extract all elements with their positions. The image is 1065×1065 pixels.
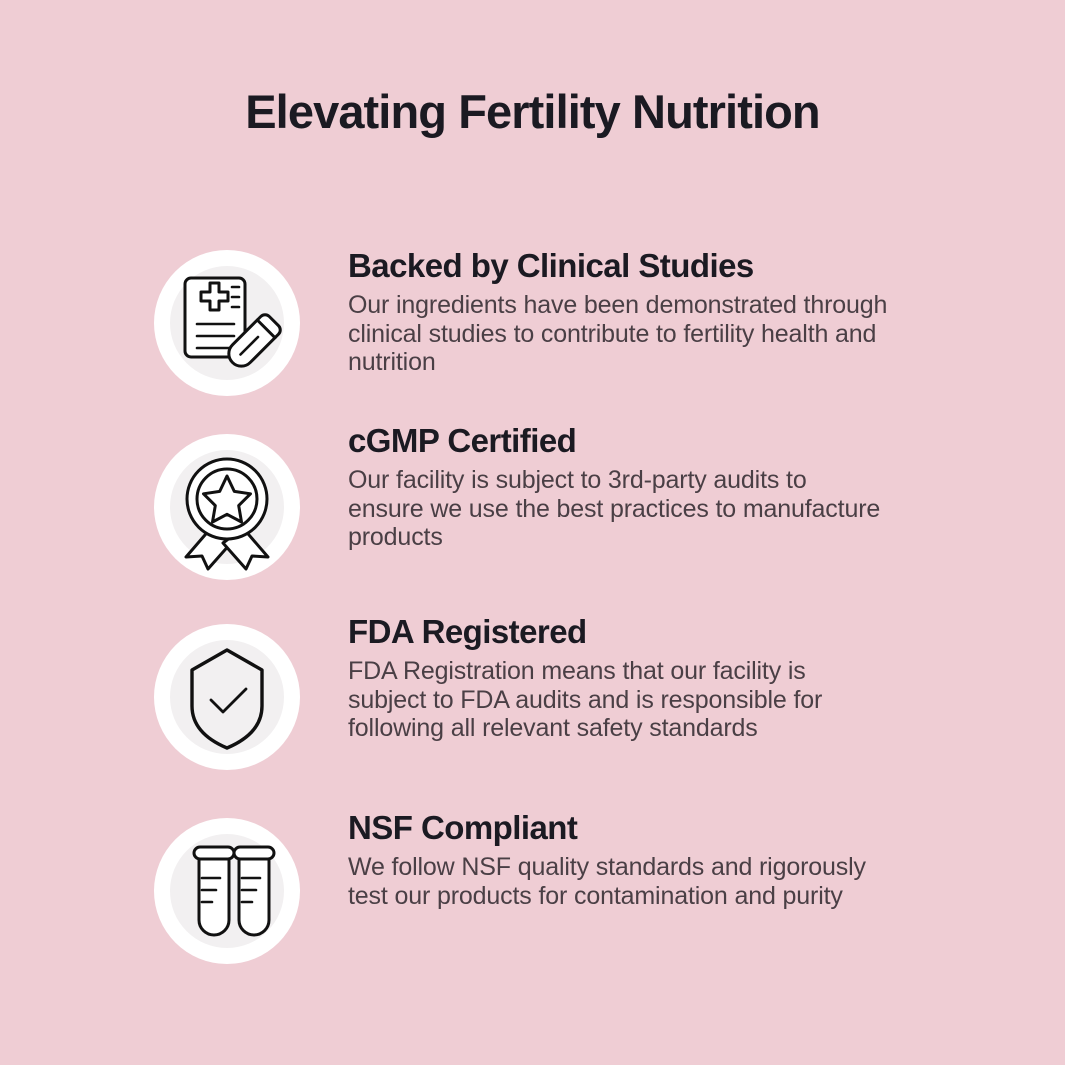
feature-body: Our ingredients have been demonstrated t… [348, 291, 888, 377]
feature-heading: cGMP Certified [348, 419, 912, 463]
shield-check-icon [154, 624, 300, 770]
feature-heading: NSF Compliant [348, 806, 912, 850]
award-medal-star-icon [154, 434, 300, 580]
icon-badge-nsf-compliant [154, 818, 300, 964]
feature-body: We follow NSF quality standards and rigo… [348, 853, 888, 910]
icon-badge-clinical-studies [154, 250, 300, 396]
feature-text-block: cGMP Certified Our facility is subject t… [300, 418, 912, 552]
feature-text-block: FDA Registered FDA Registration means th… [300, 608, 912, 743]
feature-text-block: NSF Compliant We follow NSF quality stan… [300, 804, 912, 910]
feature-body: Our facility is subject to 3rd-party aud… [348, 466, 888, 552]
icon-badge-fda-registered [154, 624, 300, 770]
feature-body: FDA Registration means that our facility… [348, 657, 888, 743]
poster-canvas: Elevating Fertility Nutrition [0, 0, 1065, 1065]
feature-item-cgmp-certified: cGMP Certified Our facility is subject t… [152, 418, 912, 608]
feature-heading: FDA Registered [348, 610, 912, 654]
icon-badge-cgmp-certified [154, 434, 300, 580]
feature-list: Backed by Clinical Studies Our ingredien… [152, 228, 912, 994]
feature-item-clinical-studies: Backed by Clinical Studies Our ingredien… [152, 228, 912, 418]
clipboard-test-tube-icon [154, 250, 300, 396]
feature-item-fda-registered: FDA Registered FDA Registration means th… [152, 608, 912, 804]
feature-text-block: Backed by Clinical Studies Our ingredien… [300, 228, 912, 377]
feature-heading: Backed by Clinical Studies [348, 244, 912, 288]
test-tubes-icon [154, 818, 300, 964]
page-title: Elevating Fertility Nutrition [0, 82, 1065, 142]
feature-item-nsf-compliant: NSF Compliant We follow NSF quality stan… [152, 804, 912, 994]
